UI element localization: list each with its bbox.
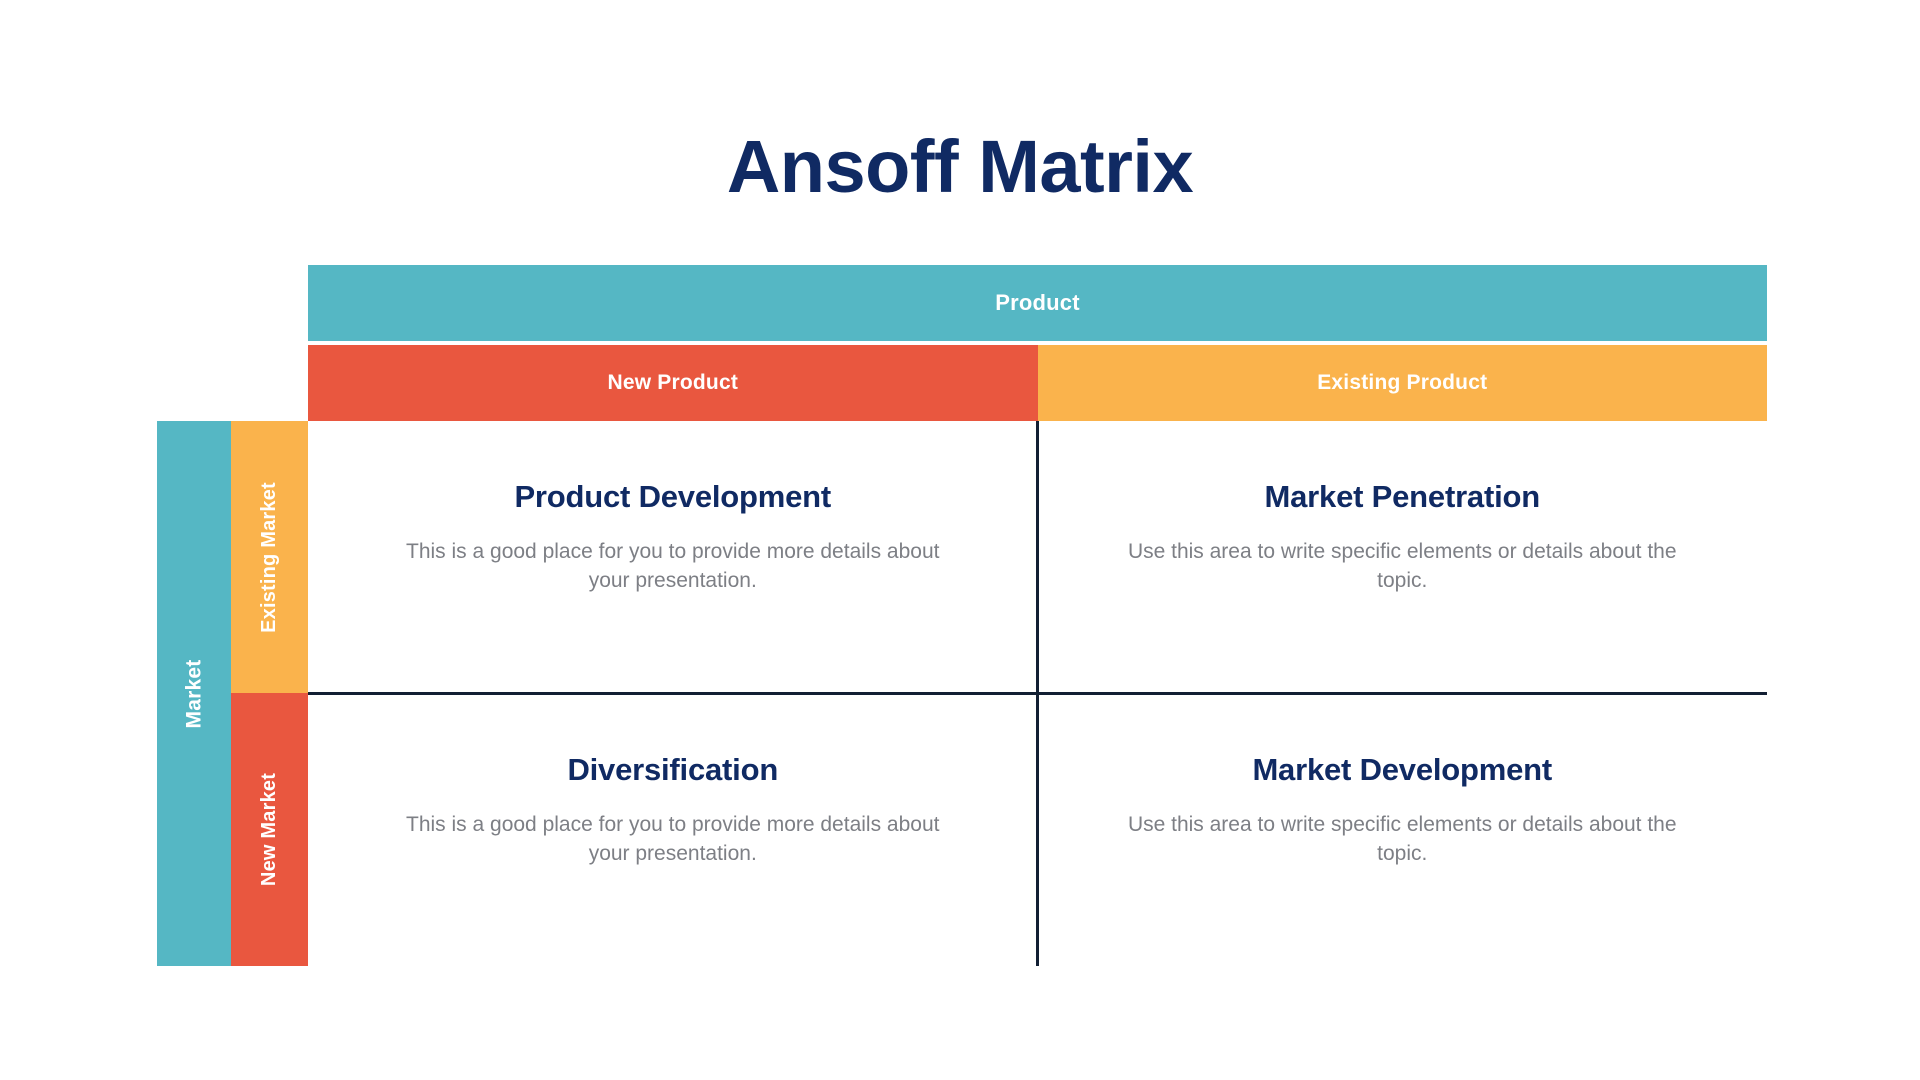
divider-horizontal: [308, 692, 1767, 695]
column-header-existing-product: Existing Product: [1038, 345, 1768, 421]
quadrant-body-market-penetration: Use this area to write specific elements…: [1122, 537, 1682, 597]
quadrant-title-diversification: Diversification: [567, 752, 778, 788]
quadrant-body-diversification: This is a good place for you to provide …: [393, 810, 953, 870]
quadrant-body-market-development: Use this area to write specific elements…: [1122, 810, 1682, 870]
column-header-new-product-label: New Product: [607, 371, 738, 395]
row-header-existing-market: Existing Market: [231, 421, 308, 693]
market-axis-label: Market: [182, 659, 206, 728]
quadrant-title-market-penetration: Market Penetration: [1265, 479, 1540, 515]
row-header-existing-market-label: Existing Market: [258, 482, 281, 633]
quadrant-title-market-development: Market Development: [1252, 752, 1552, 788]
quadrant-diversification: Diversification This is a good place for…: [308, 694, 1038, 966]
quadrant-body-product-development: This is a good place for you to provide …: [393, 537, 953, 597]
column-header-existing-product-label: Existing Product: [1317, 371, 1487, 395]
quadrant-product-development: Product Development This is a good place…: [308, 421, 1038, 693]
quadrant-market-penetration: Market Penetration Use this area to writ…: [1038, 421, 1768, 693]
row-header-new-market: New Market: [231, 693, 308, 966]
column-header-row: New Product Existing Product: [308, 345, 1767, 421]
row-header-new-market-label: New Market: [258, 773, 281, 886]
ansoff-matrix-diagram: Product New Product Existing Product Mar…: [0, 0, 1920, 1080]
product-axis-label: Product: [995, 290, 1080, 316]
quadrant-market-development: Market Development Use this area to writ…: [1038, 694, 1768, 966]
row-header-rail: Existing Market New Market: [231, 421, 308, 966]
column-header-new-product: New Product: [308, 345, 1038, 421]
product-axis-band: Product: [308, 265, 1767, 341]
quadrant-title-product-development: Product Development: [514, 479, 831, 515]
ansoff-matrix-slide: Ansoff Matrix Product New Product Existi…: [0, 0, 1920, 1080]
market-axis-band: Market: [157, 421, 231, 966]
